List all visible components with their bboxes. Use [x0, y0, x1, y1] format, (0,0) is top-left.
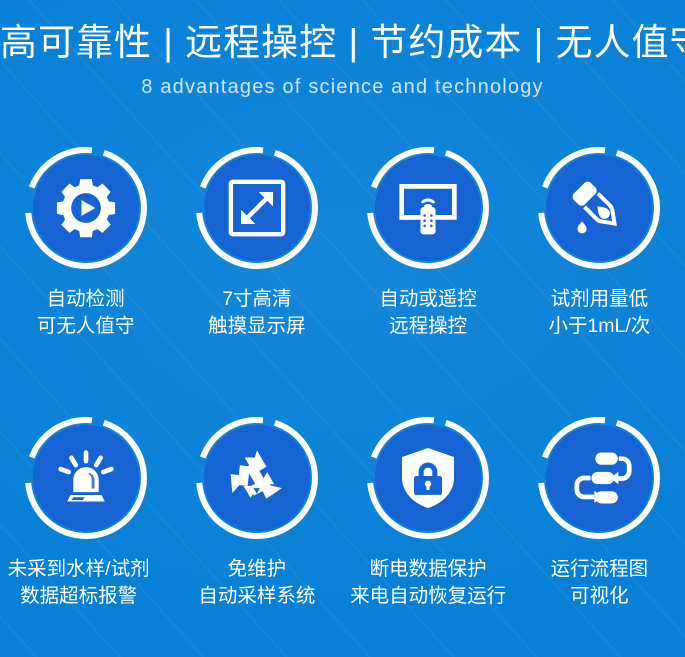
caption-line-1: 免维护 — [198, 556, 315, 583]
caption-line-1: 断电数据保护 — [350, 556, 506, 583]
advantage-item-8[interactable]: 运行流程图 可视化 — [514, 416, 685, 657]
page-title: 高可靠性 | 远程操控 | 节约成本 | 无人值守 — [0, 20, 685, 66]
advantages-grid: 自动检测 可无人值守 — [0, 146, 685, 657]
shield-lock-icon — [375, 425, 481, 531]
advantage-caption-8: 运行流程图 可视化 — [551, 556, 649, 610]
badge-3 — [366, 146, 490, 270]
advantage-caption-7: 断电数据保护 来电自动恢复运行 — [350, 556, 506, 610]
recycle-icon — [204, 425, 310, 531]
advantage-caption-3: 自动或遥控 远程操控 — [379, 286, 477, 340]
caption-line-2: 可无人值守 — [37, 313, 135, 340]
caption-line-1: 7寸高清 — [208, 286, 306, 313]
alarm-siren-icon — [33, 425, 139, 531]
caption-line-2: 数据超标报警 — [8, 583, 150, 610]
advantage-item-2[interactable]: 7寸高清 触摸显示屏 — [171, 146, 342, 416]
advantages-row-1: 自动检测 可无人值守 — [0, 146, 685, 416]
caption-line-1: 试剂用量低 — [548, 286, 650, 313]
advantage-caption-2: 7寸高清 触摸显示屏 — [208, 286, 306, 340]
advantage-item-1[interactable]: 自动检测 可无人值守 — [0, 146, 171, 416]
badge-1 — [24, 146, 148, 270]
badge-6 — [195, 416, 319, 540]
badge-5 — [24, 416, 148, 540]
advantage-caption-6: 免维护 自动采样系统 — [198, 556, 315, 610]
monitor-remote-control-icon — [375, 155, 481, 261]
advantage-item-6[interactable]: 免维护 自动采样系统 — [171, 416, 342, 657]
advantage-caption-5: 未采到水样/试剂 数据超标报警 — [8, 556, 150, 610]
badge-4 — [537, 146, 661, 270]
gear-play-icon — [33, 155, 139, 261]
caption-line-2: 自动采样系统 — [198, 583, 315, 610]
advantages-row-2: 未采到水样/试剂 数据超标报警 — [0, 416, 685, 657]
caption-line-2: 远程操控 — [379, 313, 477, 340]
advantage-caption-4: 试剂用量低 小于1mL/次 — [548, 286, 650, 340]
badge-8 — [537, 416, 661, 540]
badge-2 — [195, 146, 319, 270]
caption-line-2: 可视化 — [551, 583, 649, 610]
caption-line-1: 自动检测 — [37, 286, 135, 313]
advantage-item-4[interactable]: 试剂用量低 小于1mL/次 — [514, 146, 685, 416]
caption-line-2: 来电自动恢复运行 — [350, 583, 506, 610]
advantage-item-5[interactable]: 未采到水样/试剂 数据超标报警 — [0, 416, 171, 657]
caption-line-1: 运行流程图 — [551, 556, 649, 583]
flowchart-loop-icon — [546, 425, 652, 531]
caption-line-2: 小于1mL/次 — [548, 313, 650, 340]
caption-line-1: 自动或遥控 — [379, 286, 477, 313]
caption-line-2: 触摸显示屏 — [208, 313, 306, 340]
infographic-page: 高可靠性 | 远程操控 | 节约成本 | 无人值守 8 advantages o… — [0, 0, 685, 657]
caption-line-1: 未采到水样/试剂 — [8, 556, 150, 583]
advantage-item-7[interactable]: 断电数据保护 来电自动恢复运行 — [343, 416, 514, 657]
page-subtitle: 8 advantages of science and technology — [0, 72, 685, 102]
dropper-pipette-icon — [546, 155, 652, 261]
advantage-item-3[interactable]: 自动或遥控 远程操控 — [343, 146, 514, 416]
expand-arrows-screen-icon — [204, 155, 310, 261]
header: 高可靠性 | 远程操控 | 节约成本 | 无人值守 8 advantages o… — [0, 0, 685, 102]
badge-7 — [366, 416, 490, 540]
advantage-caption-1: 自动检测 可无人值守 — [37, 286, 135, 340]
